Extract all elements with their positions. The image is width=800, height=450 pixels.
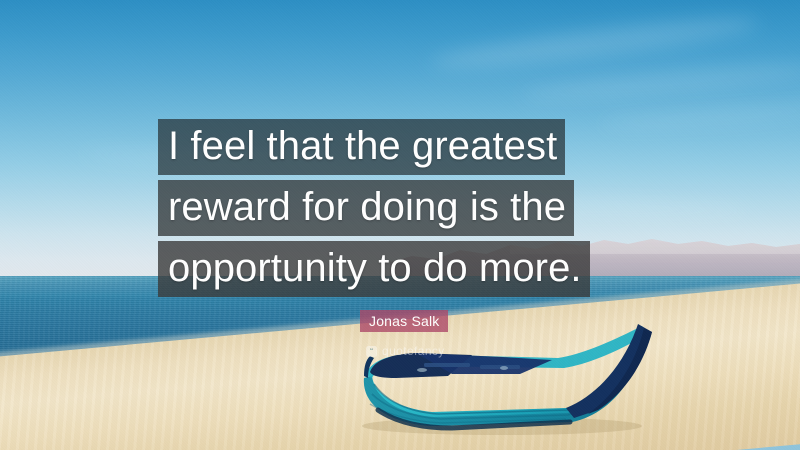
quote-line-1: I feel that the greatest — [158, 119, 565, 175]
quote-image: I feel that the greatest reward for doin… — [0, 0, 800, 450]
watermark-brand: quotefancy — [382, 345, 445, 357]
quote-line-3: opportunity to do more. — [158, 241, 590, 297]
author-badge: Jonas Salk — [360, 310, 448, 332]
rowboat — [352, 318, 662, 440]
quote-block: I feel that the greatest reward for doin… — [158, 119, 658, 297]
quote-mark-icon: “ — [366, 346, 377, 357]
quote-line-2: reward for doing is the — [158, 180, 574, 236]
watermark: “ quotefancy — [366, 345, 445, 357]
